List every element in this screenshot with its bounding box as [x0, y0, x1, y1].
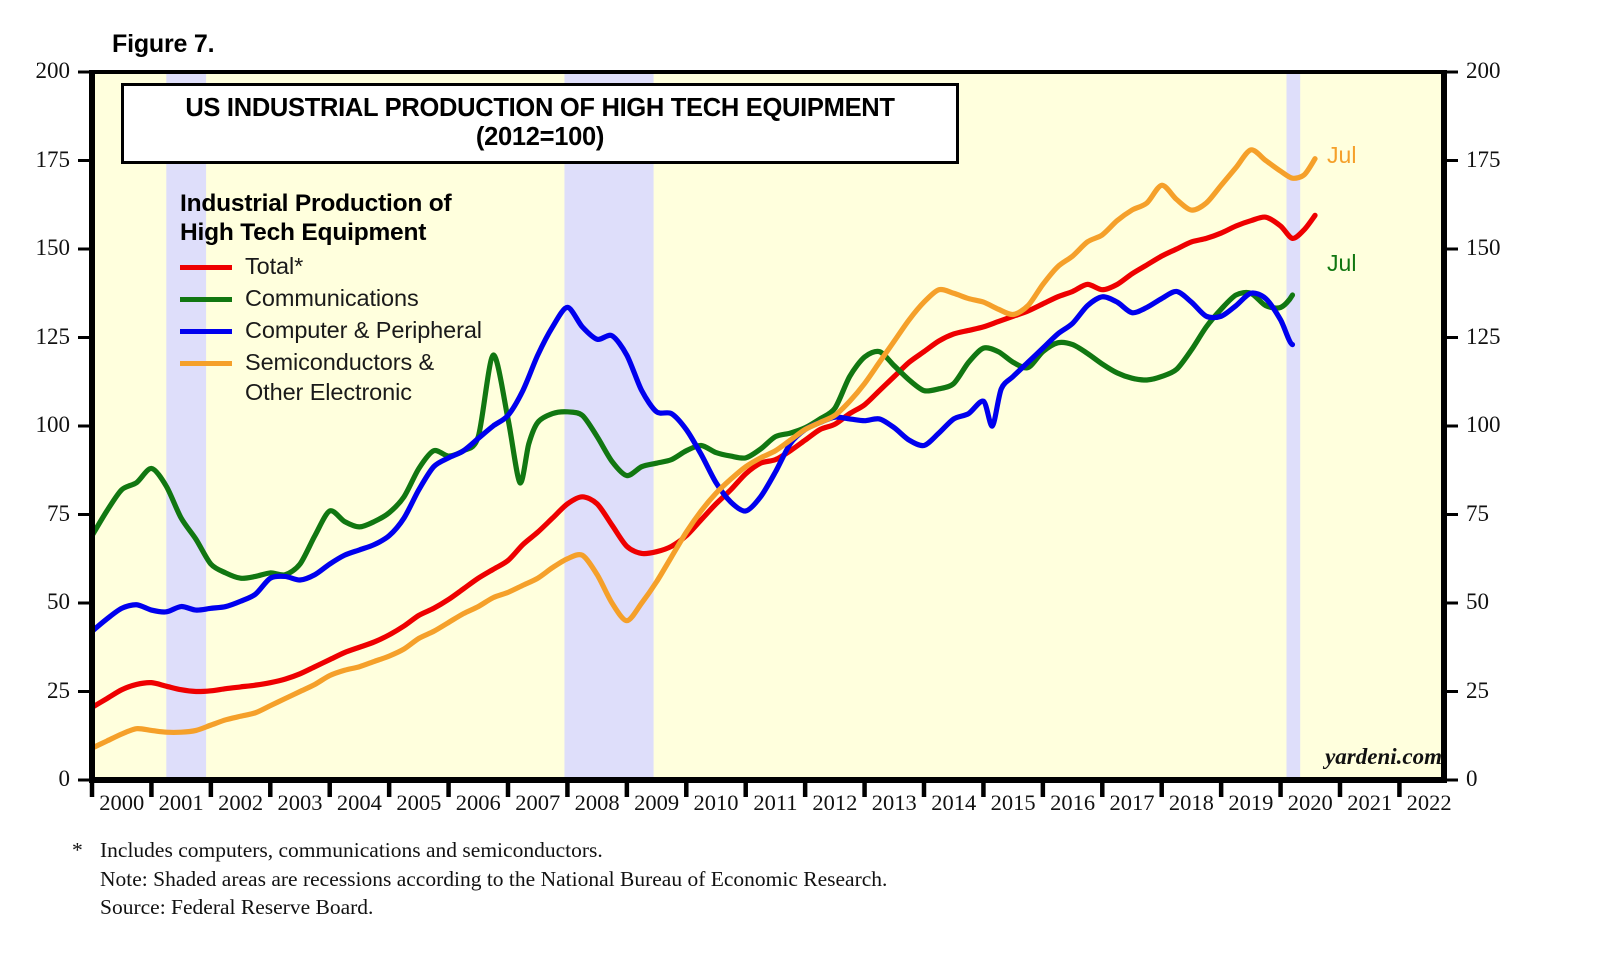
x-axis-tick-label: 2013 [863, 790, 925, 816]
x-axis-tick-label: 2011 [744, 790, 806, 816]
x-axis-tick-label: 2018 [1160, 790, 1222, 816]
y-axis-tick-label-right: 100 [1466, 412, 1526, 438]
legend-item: Computer & Peripheral [180, 315, 482, 345]
footnote-asterisk: * [72, 836, 100, 865]
x-axis-tick-label: 2004 [328, 790, 390, 816]
chart-title-line2: (2012=100) [128, 123, 952, 152]
recession-band [564, 72, 653, 780]
x-axis-tick-label: 2007 [507, 790, 569, 816]
y-axis-tick-label-left: 75 [10, 501, 70, 527]
legend-color-swatch [180, 361, 232, 366]
y-axis-tick-label-right: 150 [1466, 235, 1526, 261]
recession-band [166, 72, 206, 780]
x-axis-tick-label: 2008 [566, 790, 628, 816]
legend-item-label: Computer & Peripheral [245, 315, 482, 345]
y-axis-tick-label-right: 50 [1466, 589, 1526, 615]
y-axis-tick-label-left: 150 [10, 235, 70, 261]
y-axis-tick-label-right: 25 [1466, 678, 1526, 704]
x-axis-tick-label: 2021 [1339, 790, 1401, 816]
y-axis-tick-label-right: 200 [1466, 58, 1526, 84]
x-axis-tick-label: 2020 [1279, 790, 1341, 816]
legend-color-swatch [180, 265, 232, 270]
footnote-line-2: Note: Shaded areas are recessions accord… [100, 865, 887, 894]
x-axis-tick-label: 2017 [1101, 790, 1163, 816]
x-axis-tick-label: 2015 [982, 790, 1044, 816]
legend-item-label: Total* [245, 251, 303, 281]
y-axis-tick-label-left: 25 [10, 678, 70, 704]
x-axis-tick-label: 2010 [685, 790, 747, 816]
x-axis-tick-label: 2002 [210, 790, 272, 816]
y-axis-tick-label-left: 100 [10, 412, 70, 438]
x-axis-tick-label: 2000 [91, 790, 153, 816]
chart-legend: Industrial Production of High Tech Equip… [180, 190, 482, 409]
y-axis-tick-label-right: 75 [1466, 501, 1526, 527]
legend-item-label: Communications [245, 283, 419, 313]
y-axis-tick-label-left: 125 [10, 324, 70, 350]
x-axis-tick-label: 2006 [447, 790, 509, 816]
legend-item-label: Semiconductors & Other Electronic [245, 347, 434, 407]
x-axis-tick-label: 2009 [626, 790, 688, 816]
x-axis-tick-label: 2012 [804, 790, 866, 816]
y-axis-tick-label-right: 0 [1466, 766, 1526, 792]
series-end-label: Jul [1327, 250, 1356, 277]
footnotes: * Includes computers, communications and… [72, 836, 887, 922]
footnote-row-1: * Includes computers, communications and… [72, 836, 887, 865]
watermark: yardeni.com [1325, 744, 1442, 770]
chart-title-line1: US INDUSTRIAL PRODUCTION OF HIGH TECH EQ… [128, 94, 952, 123]
legend-item: Semiconductors & Other Electronic [180, 347, 482, 407]
footnote-line-3: Source: Federal Reserve Board. [100, 893, 887, 922]
x-axis-tick-label: 2019 [1220, 790, 1282, 816]
y-axis-tick-label-left: 175 [10, 147, 70, 173]
legend-items: Total*CommunicationsComputer & Periphera… [180, 251, 482, 407]
y-axis-tick-label-left: 0 [10, 766, 70, 792]
legend-item: Communications [180, 283, 482, 313]
legend-heading: Industrial Production of High Tech Equip… [180, 190, 482, 248]
x-axis-tick-label: 2022 [1398, 790, 1460, 816]
x-axis-tick-label: 2016 [1042, 790, 1104, 816]
y-axis-tick-label-right: 175 [1466, 147, 1526, 173]
chart-title-box: US INDUSTRIAL PRODUCTION OF HIGH TECH EQ… [121, 83, 959, 164]
x-axis-tick-label: 2005 [388, 790, 450, 816]
y-axis-tick-label-left: 50 [10, 589, 70, 615]
series-end-label: Jul [1327, 142, 1356, 169]
x-axis-tick-label: 2003 [269, 790, 331, 816]
legend-color-swatch [180, 329, 232, 334]
x-axis-tick-label: 2001 [150, 790, 212, 816]
y-axis-tick-label-left: 200 [10, 58, 70, 84]
legend-item: Total* [180, 251, 482, 281]
footnote-line-1: Includes computers, communications and s… [100, 836, 603, 865]
x-axis-tick-label: 2014 [923, 790, 985, 816]
y-axis-tick-label-right: 125 [1466, 324, 1526, 350]
legend-color-swatch [180, 297, 232, 302]
